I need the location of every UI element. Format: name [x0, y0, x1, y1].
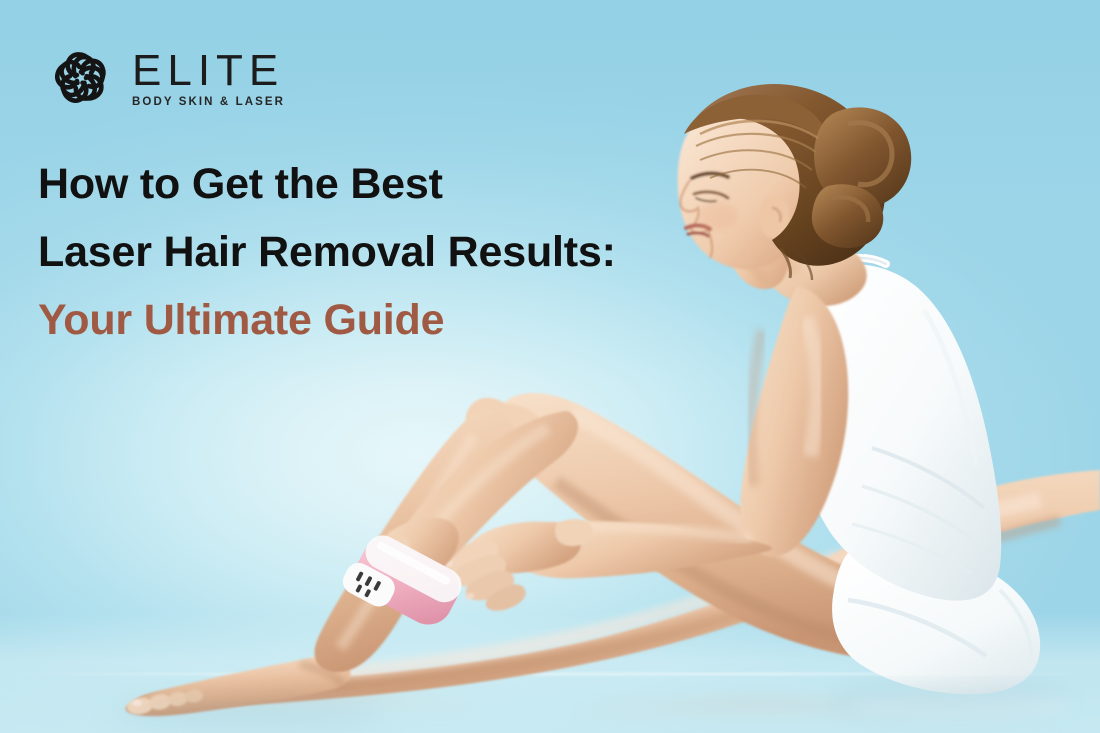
headline-line-1: How to Get the Best [38, 150, 616, 218]
headline-line-3-accent: Your Ultimate Guide [38, 286, 616, 354]
logo-tagline: BODY SKIN & LASER [132, 96, 285, 108]
headline-block: How to Get the Best Laser Hair Removal R… [38, 150, 616, 354]
logo-wordmark: ELITE BODY SKIN & LASER [132, 50, 285, 108]
brand-logo[interactable]: ELITE BODY SKIN & LASER [44, 44, 285, 114]
blog-banner: ELITE BODY SKIN & LASER How to Get the B… [0, 0, 1100, 733]
logo-name: ELITE [132, 50, 285, 91]
elite-floral-pinwheel-icon [44, 44, 118, 114]
headline-line-2: Laser Hair Removal Results: [38, 218, 616, 286]
